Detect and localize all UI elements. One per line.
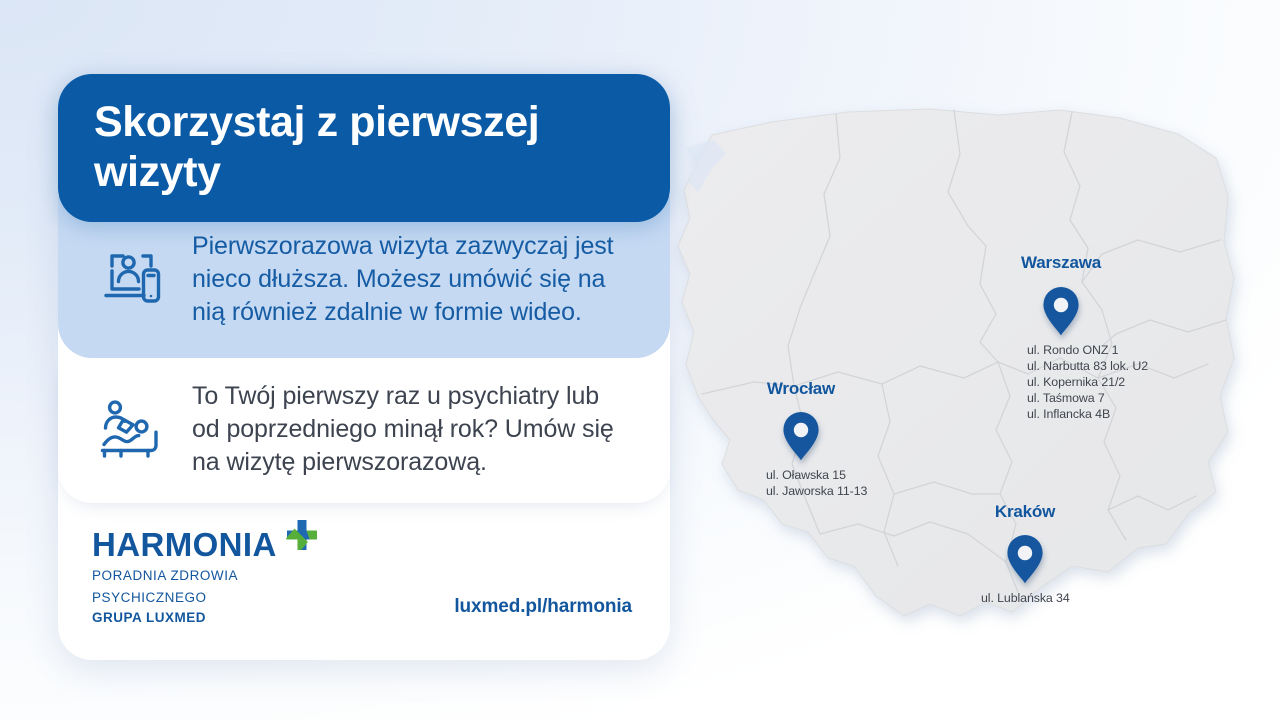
info-block-first-visit: To Twój pierwszy raz u psychiatry lub od… (58, 358, 670, 503)
cross-icon (281, 517, 321, 562)
city-label-krakow: Kraków (995, 502, 1056, 521)
info-block-first-visit-text: To Twój pierwszy raz u psychiatry lub od… (192, 380, 630, 479)
svg-text:ul. Rondo ONZ 1: ul. Rondo ONZ 1 (1027, 343, 1119, 357)
therapy-couch-icon (92, 398, 170, 462)
page-title: Skorzystaj z pierwszej wizyty (94, 98, 634, 198)
svg-text:ul. Lublańska 34: ul. Lublańska 34 (981, 591, 1070, 605)
logo-wordmark: HARMONIA (92, 528, 277, 561)
card-footer: HARMONIA PORADNIA ZDROWIA PSYCHICZNEGO G… (58, 508, 670, 660)
info-block-video-text: Pierwszorazowa wizyta zazwyczaj jest nie… (192, 230, 630, 329)
svg-text:ul. Oławska 15: ul. Oławska 15 (766, 468, 846, 482)
city-label-warszawa: Warszawa (1021, 253, 1102, 272)
logo-subtitle-line2: PSYCHICZNEGO (92, 589, 321, 606)
city-label-wroclaw: Wrocław (767, 379, 836, 398)
svg-text:ul. Kopernika 21/2: ul. Kopernika 21/2 (1027, 375, 1125, 389)
logo-group: GRUPA LUXMED (92, 609, 321, 626)
video-consultation-icon (92, 248, 170, 310)
svg-text:ul. Jaworska 11-13: ul. Jaworska 11-13 (766, 484, 867, 498)
harmonia-logo[interactable]: HARMONIA PORADNIA ZDROWIA PSYCHICZNEGO G… (92, 528, 321, 626)
poland-map: Warszawa ul. Rondo ONZ 1 ul. Narbutta 83… (668, 96, 1268, 666)
svg-text:ul. Inflancka 4B: ul. Inflancka 4B (1027, 407, 1110, 421)
website-url-link[interactable]: luxmed.pl/harmonia (454, 596, 632, 618)
address-list-krakow: ul. Lublańska 34 (981, 591, 1070, 605)
map-landmass (678, 109, 1234, 616)
svg-text:ul. Taśmowa 7: ul. Taśmowa 7 (1027, 391, 1105, 405)
card-header: Skorzystaj z pierwszej wizyty (58, 74, 670, 222)
logo-subtitle-line1: PORADNIA ZDROWIA (92, 567, 321, 584)
svg-text:ul. Narbutta 83 lok. U2: ul. Narbutta 83 lok. U2 (1027, 359, 1148, 373)
